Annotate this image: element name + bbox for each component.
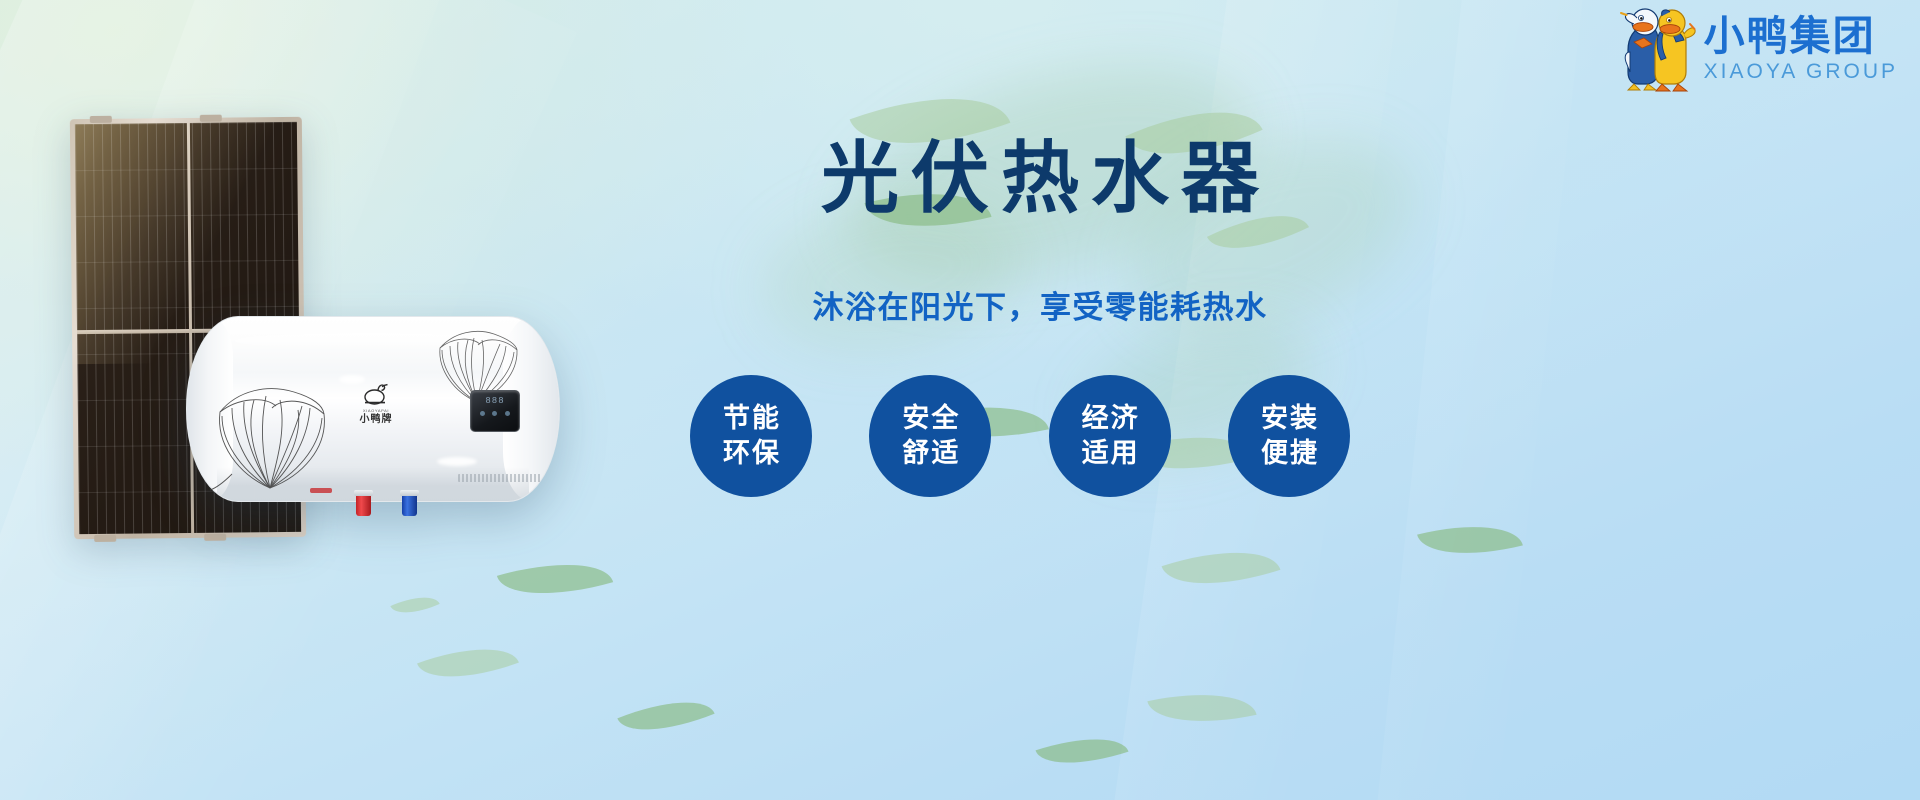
model-label-strip xyxy=(458,474,542,482)
feature-badge-economical[interactable]: 经济 适用 xyxy=(1049,375,1171,497)
badge-line-2: 便捷 xyxy=(1259,436,1319,471)
page-subtitle: 沐浴在阳光下，享受零能耗热水 xyxy=(700,282,1380,327)
promo-banner: XIAOYAPAI 小鸭牌 888 光伏热水器 沐浴在阳光下，享受零能耗热水 节… xyxy=(0,0,1920,800)
duck-logo-icon xyxy=(361,378,391,408)
light-sheen xyxy=(1358,0,1603,800)
cold-water-pipe xyxy=(402,494,417,516)
leaf-icon xyxy=(1162,532,1281,605)
feature-badge-energy-saving[interactable]: 节能 环保 xyxy=(690,375,812,497)
tank-shadow xyxy=(217,467,529,501)
logo-text-block: 小鸭集团 XIAOYA GROUP xyxy=(1704,16,1898,82)
pipe-collar xyxy=(400,490,419,496)
page-title: 光伏热水器 xyxy=(700,138,1380,220)
panel-clip xyxy=(90,116,112,123)
display-value: 888 xyxy=(476,397,514,406)
duck-mascots-icon xyxy=(1618,6,1696,92)
leaf-icon xyxy=(417,631,519,696)
panel-clip xyxy=(204,534,226,541)
display-indicator-dot xyxy=(505,411,510,416)
feature-badge-easy-install[interactable]: 安装 便捷 xyxy=(1228,375,1350,497)
display-indicator-dot xyxy=(492,411,497,416)
tank-glint xyxy=(437,457,477,466)
badge-line-1: 节能 xyxy=(721,401,781,436)
brand-logo[interactable]: 小鸭集团 XIAOYA GROUP xyxy=(1618,6,1898,92)
product-brand-mark: XIAOYAPAI 小鸭牌 xyxy=(346,378,406,425)
brand-chinese: 小鸭牌 xyxy=(346,414,406,425)
logo-english-name: XIAOYA GROUP xyxy=(1704,61,1898,82)
leaf-icon xyxy=(1036,723,1129,779)
badge-line-1: 安全 xyxy=(900,401,960,436)
leaf-icon xyxy=(1417,510,1523,569)
hot-water-pipe xyxy=(356,494,371,516)
tank-highlight xyxy=(235,333,501,349)
water-heater-product-image: XIAOYAPAI 小鸭牌 888 xyxy=(186,316,560,502)
pipe-collar xyxy=(354,490,373,496)
badge-line-1: 经济 xyxy=(1080,401,1140,436)
leaf-icon xyxy=(617,684,714,748)
relief-valve-tab xyxy=(310,488,332,493)
leaf-icon xyxy=(497,546,613,613)
display-indicator-dot xyxy=(480,411,485,416)
badge-line-2: 舒适 xyxy=(900,436,960,471)
badge-line-2: 适用 xyxy=(1080,436,1140,471)
panel-clip xyxy=(94,535,116,542)
feature-badge-list: 节能 环保 安全 舒适 经济 适用 安装 便捷 xyxy=(690,371,1350,501)
badge-line-2: 环保 xyxy=(721,436,781,471)
badge-line-1: 安装 xyxy=(1259,401,1319,436)
feature-badge-safe-comfort[interactable]: 安全 舒适 xyxy=(869,375,991,497)
brand-pinyin: XIAOYAPAI xyxy=(346,409,406,413)
panel-clip xyxy=(200,115,222,122)
leaf-icon xyxy=(390,587,439,622)
logo-chinese-name: 小鸭集团 xyxy=(1704,16,1898,57)
control-display-panel[interactable]: 888 xyxy=(470,390,520,432)
display-indicator-row xyxy=(476,411,514,416)
leaf-icon xyxy=(1147,680,1256,737)
